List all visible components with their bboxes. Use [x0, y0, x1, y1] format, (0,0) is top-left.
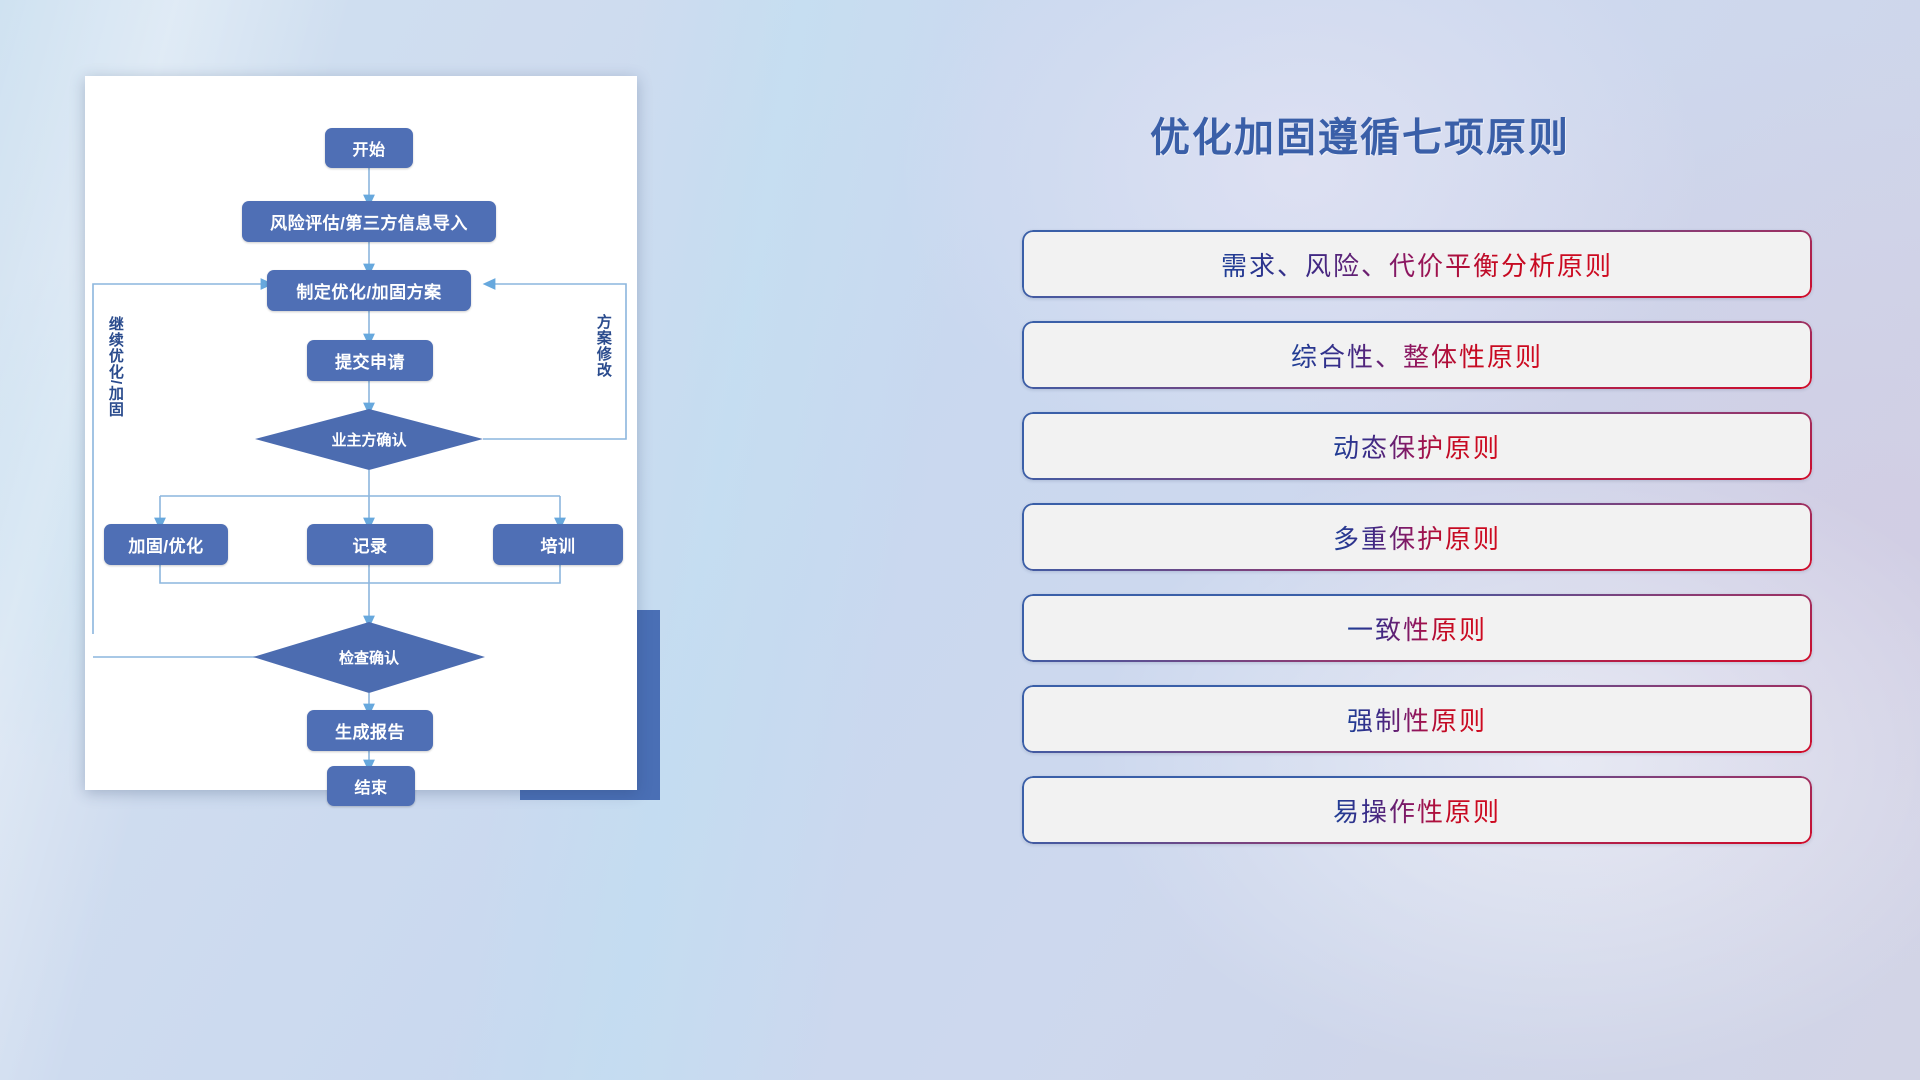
principle-item-7-label: 易操作性原则 [1333, 792, 1501, 829]
node-record-label: 记录 [353, 532, 388, 557]
node-training[interactable]: 培训 [493, 524, 623, 565]
decision-check-confirm [253, 622, 485, 693]
flowchart-connectors [85, 76, 637, 790]
principle-item-1[interactable]: 需求、风险、代价平衡分析原则 [1022, 230, 1812, 298]
node-submit-application-label: 提交申请 [335, 348, 405, 373]
edge-label-plan-revision: 方案修改 [595, 314, 611, 378]
node-end-label: 结束 [354, 774, 387, 798]
principle-item-5[interactable]: 一致性原则 [1022, 594, 1812, 662]
principle-item-7[interactable]: 易操作性原则 [1022, 776, 1812, 844]
principle-item-4-label: 多重保护原则 [1333, 519, 1501, 556]
node-reinforce-optimize-label: 加固/优化 [128, 532, 203, 557]
principle-item-1-label: 需求、风险、代价平衡分析原则 [1221, 246, 1613, 283]
principles-heading: 优化加固遵循七项原则 [1150, 105, 1850, 163]
node-reinforce-optimize[interactable]: 加固/优化 [104, 524, 228, 565]
node-submit-application[interactable]: 提交申请 [307, 340, 433, 381]
node-risk-assessment[interactable]: 风险评估/第三方信息导入 [242, 201, 496, 242]
node-training-label: 培训 [541, 532, 576, 557]
principle-item-4[interactable]: 多重保护原则 [1022, 503, 1812, 571]
node-record[interactable]: 记录 [307, 524, 433, 565]
principles-list: 需求、风险、代价平衡分析原则 综合性、整体性原则 动态保护原则 多重保护原则 一… [1022, 230, 1812, 867]
node-make-plan[interactable]: 制定优化/加固方案 [267, 270, 471, 311]
principle-item-6-label: 强制性原则 [1347, 701, 1487, 738]
principle-item-3[interactable]: 动态保护原则 [1022, 412, 1812, 480]
principle-item-2-label: 综合性、整体性原则 [1291, 337, 1543, 374]
node-make-plan-label: 制定优化/加固方案 [296, 278, 441, 303]
flowchart-card: 开始 风险评估/第三方信息导入 制定优化/加固方案 提交申请 业主方确认 加固/… [85, 76, 637, 790]
decision-owner-confirm [255, 409, 483, 470]
principle-item-2[interactable]: 综合性、整体性原则 [1022, 321, 1812, 389]
principle-item-3-label: 动态保护原则 [1333, 428, 1501, 465]
principle-item-5-label: 一致性原则 [1347, 610, 1487, 647]
edge-label-continue-optimize: 继续优化/加固 [107, 316, 123, 417]
node-start-label: 开始 [352, 136, 385, 160]
node-generate-report-label: 生成报告 [335, 718, 405, 743]
principle-item-6[interactable]: 强制性原则 [1022, 685, 1812, 753]
node-end[interactable]: 结束 [327, 766, 415, 806]
node-generate-report[interactable]: 生成报告 [307, 710, 433, 751]
node-risk-assessment-label: 风险评估/第三方信息导入 [270, 209, 468, 234]
node-start[interactable]: 开始 [325, 128, 413, 168]
